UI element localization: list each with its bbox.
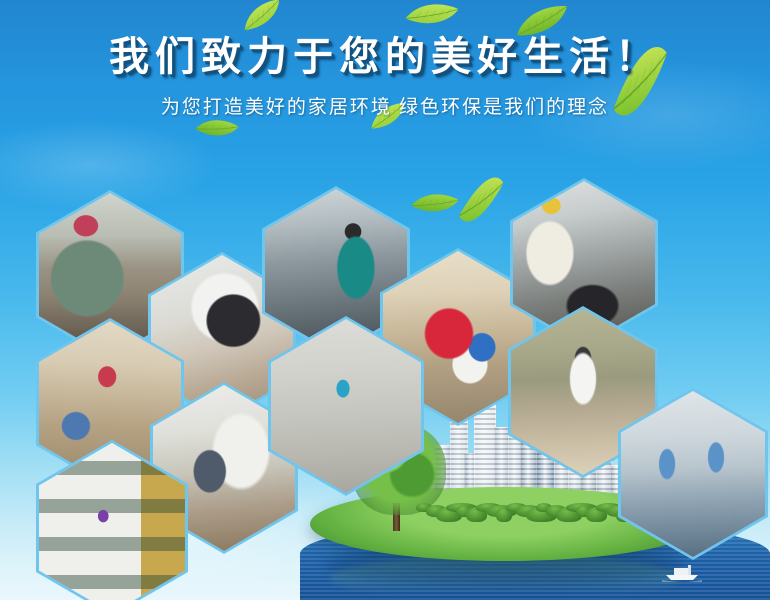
headline-block: 我们致力于您的美好生活！ 为您打造美好的家居环境 绿色环保是我们的理念 [0,36,770,119]
leaf-falling-icon [457,168,506,231]
boat-icon [662,564,702,582]
page-title: 我们致力于您的美好生活！ [0,36,770,78]
promo-banner: 我们致力于您的美好生活！ 为您打造美好的家居环境 绿色环保是我们的理念 [0,0,770,600]
leaf-top-left-icon [238,0,287,32]
leaf-top-center-icon [404,0,460,31]
page-subtitle: 为您打造美好的家居环境 绿色环保是我们的理念 [0,92,770,119]
leaf-above-hex-icon [410,186,460,220]
leaf-top-right-icon [512,4,571,38]
